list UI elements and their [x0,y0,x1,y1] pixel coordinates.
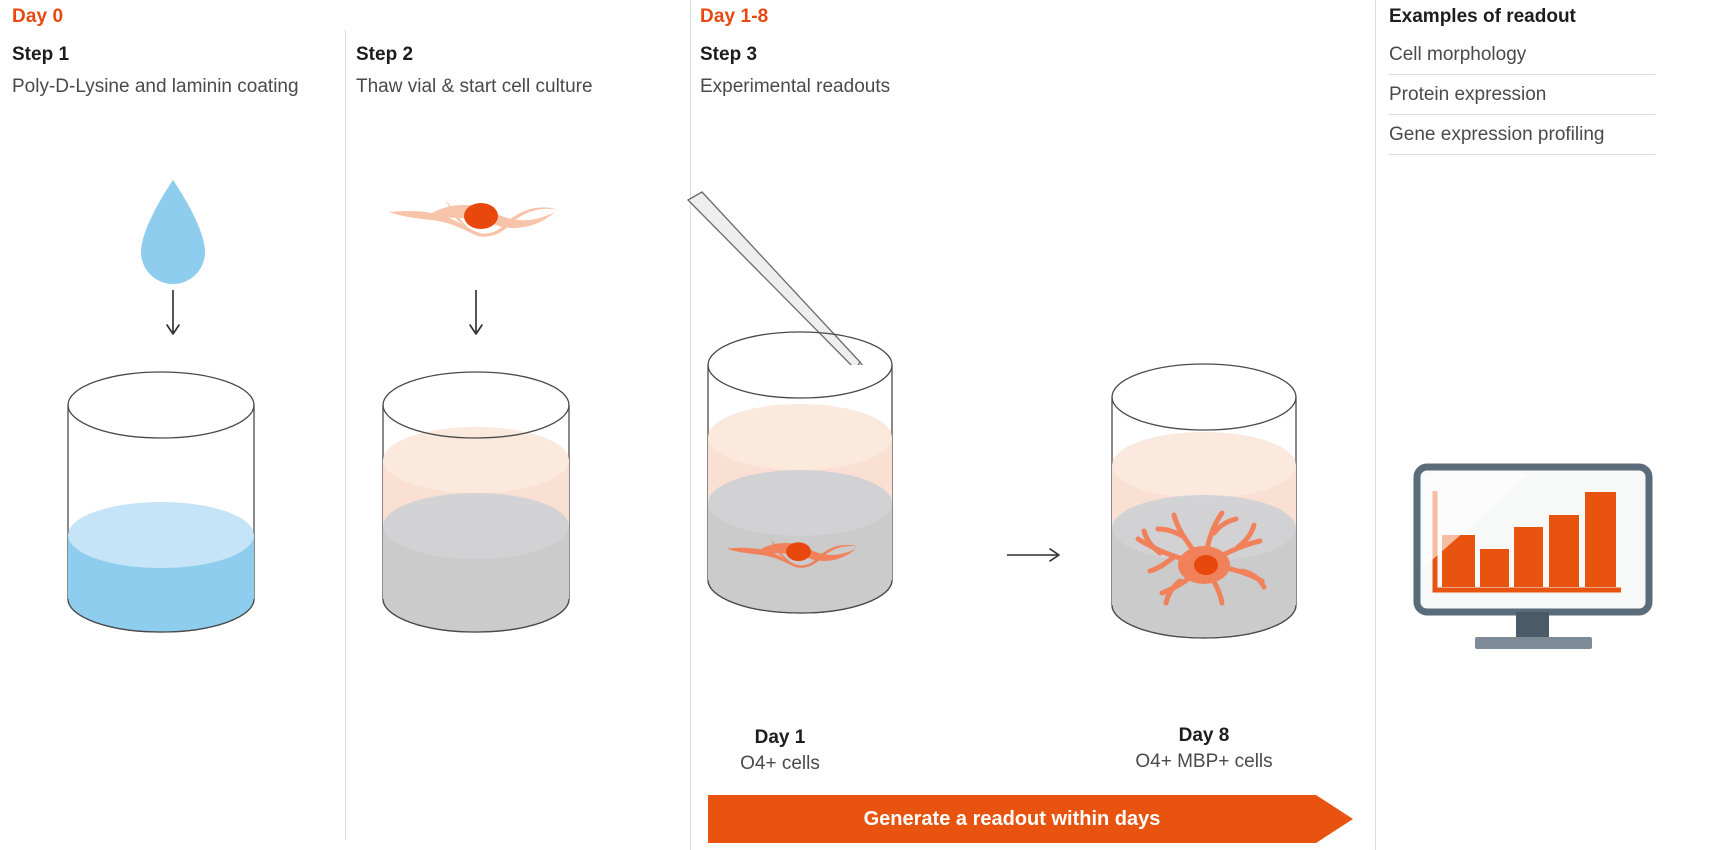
arrow-down-icon [167,290,179,334]
step-title-2: Step 3 [700,44,757,66]
dish-caption-subtitle-0: O4+ cells [700,753,860,775]
culture-dish-icon [706,332,896,633]
readout-item-0: Cell morphology [1389,44,1655,75]
monitor-bar-chart-icon [1413,463,1688,663]
day-label-2: Day 1-8 [700,6,768,28]
step-title-1: Step 2 [356,44,413,66]
step-title-0: Step 1 [12,44,69,66]
step-desc-1: Thaw vial & start cell culture [356,73,636,101]
divider-1 [345,30,346,840]
divider-3 [1375,0,1376,850]
pipette-icon [688,192,866,376]
readout-item-2: Gene expression profiling [1389,124,1655,155]
culture-dish-icon [1110,364,1300,661]
step3-day8-illustration [1090,365,1320,665]
step3-day1-illustration [680,190,940,660]
readout-banner-label: Generate a readout within days [708,808,1316,831]
culture-dish-icon [66,372,258,635]
day-label-0: Day 0 [12,6,63,28]
cell-nucleus [464,203,498,229]
readout-panel-title: Examples of readout [1389,6,1576,28]
dish-caption-subtitle-1: O4+ MBP+ cells [1124,751,1284,773]
workflow-diagram: Day 0 Step 1 Poly-D-Lysine and laminin c… [0,0,1715,850]
arrow-down-icon [470,290,482,334]
cell-nucleus [1194,555,1218,575]
dish-caption-title-1: Day 8 [1124,725,1284,747]
readout-item-1: Protein expression [1389,84,1655,115]
arrow-right-icon [1005,540,1075,570]
cell-nucleus [786,542,811,561]
culture-dish-icon [381,372,573,656]
step2-illustration [365,160,605,680]
step-desc-0: Poly-D-Lysine and laminin coating [12,73,302,101]
step-desc-2: Experimental readouts [700,73,1080,101]
dish-caption-title-0: Day 1 [700,727,860,749]
bipolar-cell-icon [389,198,559,237]
water-droplet-icon [141,180,205,284]
step1-illustration [50,160,290,680]
